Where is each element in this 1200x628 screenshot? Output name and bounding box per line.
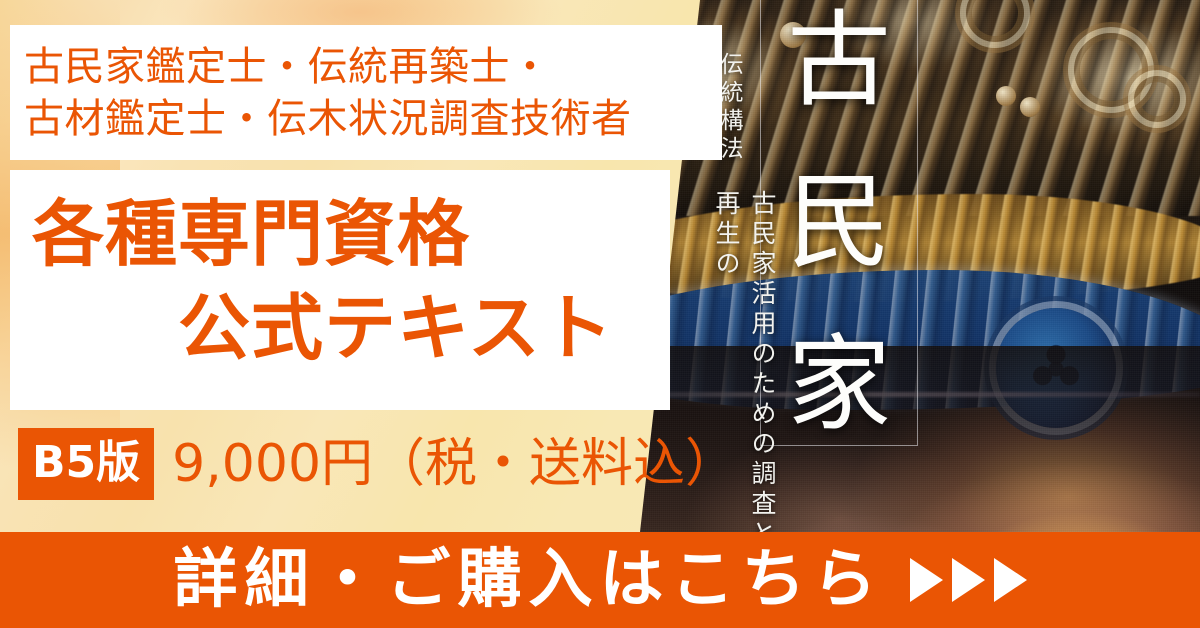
format-badge: B5版 <box>18 428 154 500</box>
price-amount: 9,000円（税・送料込） <box>172 438 737 490</box>
certifications-line-2: 古材鑑定士・伝木状況調査技術者 <box>24 93 710 145</box>
main-heading-line-1: 各種専門資格 <box>32 198 470 270</box>
promo-banner: 古 民 家 伝統構法 古民家活用のための調査と再生の 古民家鑑定士・伝統再築士・… <box>0 0 1200 628</box>
cta-label: 詳細・ご購入はこちら <box>174 548 884 612</box>
arrow-right-icon <box>910 558 943 602</box>
cta-bar[interactable]: 詳細・ご購入はこちら <box>0 532 1200 628</box>
book-title-vertical: 古 民 家 <box>762 0 916 450</box>
main-heading-line-2: 公式テキスト <box>178 292 614 364</box>
certifications-panel: 古民家鑑定士・伝統再築士・ 古材鑑定士・伝木状況調査技術者 <box>10 25 722 160</box>
book-title-char-2: 民 <box>787 170 891 274</box>
price-row: B5版 9,000円（税・送料込） <box>18 428 737 500</box>
main-heading-panel: 各種専門資格 公式テキスト <box>10 170 670 410</box>
book-title-char-1: 古 <box>787 8 891 112</box>
cta-arrows <box>910 558 1027 602</box>
book-title-char-3: 家 <box>787 332 891 436</box>
certifications-line-1: 古民家鑑定士・伝統再築士・ <box>24 41 710 93</box>
arrow-right-icon <box>994 558 1027 602</box>
arrow-right-icon <box>952 558 985 602</box>
